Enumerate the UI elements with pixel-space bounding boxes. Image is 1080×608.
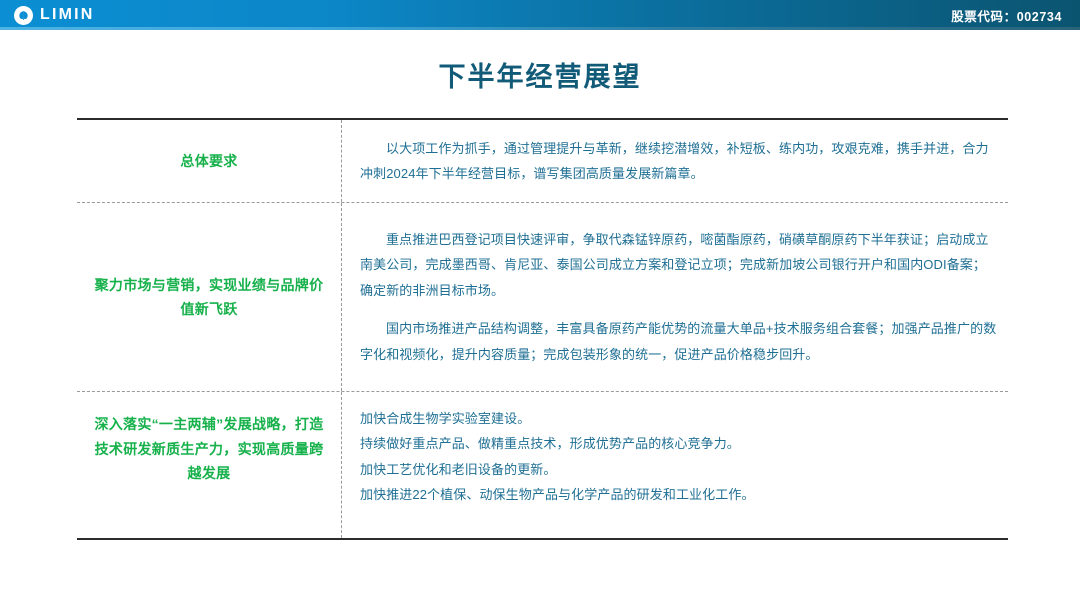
- table-row: 总体要求 以大项工作为抓手，通过管理提升与革新，继续挖潜增效，补短板、练内功，攻…: [77, 120, 1008, 202]
- brand-name: LIMIN: [40, 7, 95, 23]
- limin-leaf-logo-icon: [14, 6, 33, 25]
- content-line: 持续做好重点产品、做精重点技术，形成优势产品的核心竞争力。: [360, 431, 998, 456]
- content-line: 加快推进22个植保、动保生物产品与化学产品的研发和工业化工作。: [360, 482, 998, 507]
- row-label: 深入落实“一主两辅”发展战略，打造技术研发新质生产力，实现高质量跨越发展: [77, 392, 341, 538]
- table-row: 聚力市场与营销，实现业绩与品牌价值新飞跃 重点推进巴西登记项目快速评审，争取代森…: [77, 203, 1008, 391]
- stock-code-label: 股票代码：002734: [951, 6, 1062, 25]
- header-bar: LIMIN 股票代码：002734: [0, 0, 1080, 30]
- table-row: 深入落实“一主两辅”发展战略，打造技术研发新质生产力，实现高质量跨越发展 加快合…: [77, 392, 1008, 538]
- brand-logo-group: LIMIN: [14, 6, 95, 25]
- page-title: 下半年经营展望: [0, 55, 1080, 94]
- content-line: 加快合成生物学实验室建设。: [360, 406, 998, 431]
- row-content: 加快合成生物学实验室建设。 持续做好重点产品、做精重点技术，形成优势产品的核心竞…: [342, 392, 1008, 538]
- row-label: 聚力市场与营销，实现业绩与品牌价值新飞跃: [77, 203, 341, 391]
- paragraph: 国内市场推进产品结构调整，丰富具备原药产能优势的流量大单品+技术服务组合套餐；加…: [360, 316, 998, 367]
- row-label: 总体要求: [77, 120, 341, 202]
- slide-root: LIMIN 股票代码：002734 下半年经营展望 总体要求 以大项工作为抓手，…: [0, 0, 1080, 608]
- outlook-table: 总体要求 以大项工作为抓手，通过管理提升与革新，继续挖潜增效，补短板、练内功，攻…: [77, 118, 1008, 540]
- content-line: 加快工艺优化和老旧设备的更新。: [360, 457, 998, 482]
- row-content: 以大项工作为抓手，通过管理提升与革新，继续挖潜增效，补短板、练内功，攻艰克难，携…: [342, 120, 1008, 202]
- row-content: 重点推进巴西登记项目快速评审，争取代森锰锌原药，嘧菌酯原药，硝磺草酮原药下半年获…: [342, 203, 1008, 391]
- paragraph: 以大项工作为抓手，通过管理提升与革新，继续挖潜增效，补短板、练内功，攻艰克难，携…: [360, 136, 998, 187]
- table-bottom-rule: [77, 538, 1008, 540]
- paragraph: 重点推进巴西登记项目快速评审，争取代森锰锌原药，嘧菌酯原药，硝磺草酮原药下半年获…: [360, 227, 998, 303]
